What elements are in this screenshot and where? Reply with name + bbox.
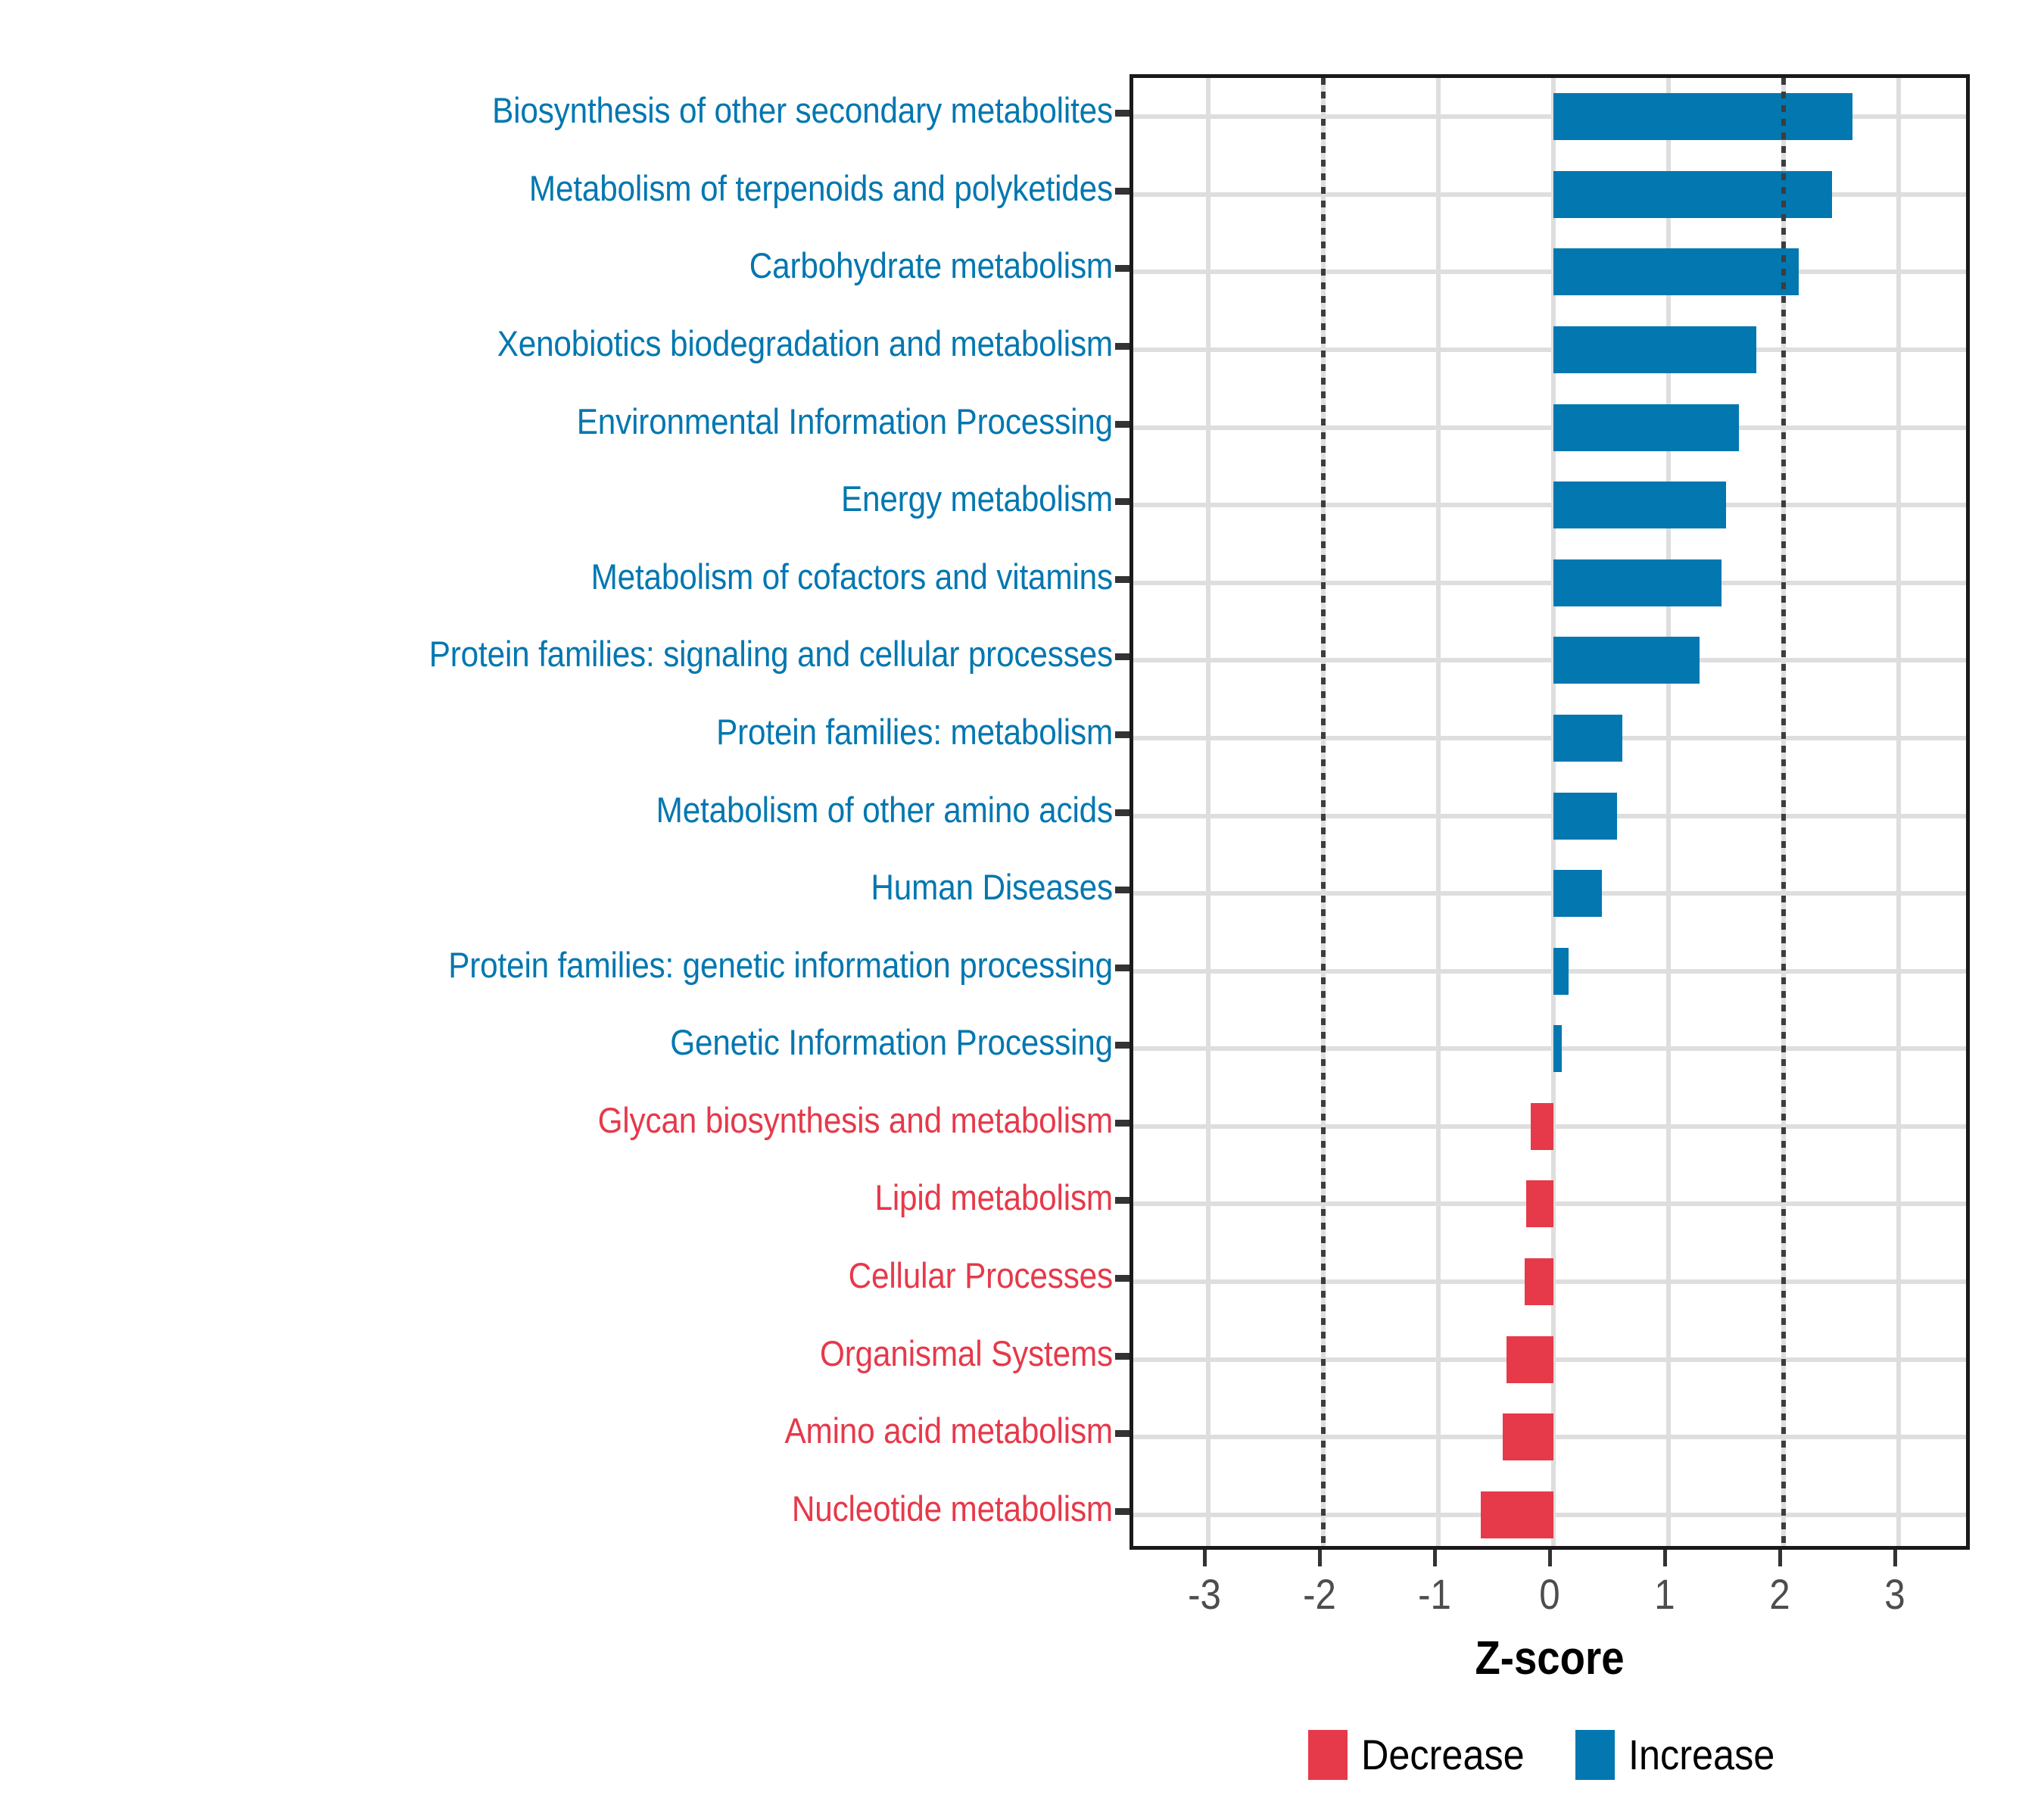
x-axis-tick-label: -1 <box>1418 1573 1451 1616</box>
x-gridline <box>1666 78 1671 1546</box>
x-axis-tick-label: -2 <box>1303 1573 1336 1616</box>
category-label: Glycan biosynthesis and metabolism <box>111 1102 1113 1138</box>
y-axis-tick <box>1115 110 1129 117</box>
category-label: Amino acid metabolism <box>111 1413 1113 1448</box>
y-axis-tick <box>1115 1275 1129 1282</box>
category-label: Lipid metabolism <box>111 1180 1113 1215</box>
bar[interactable] <box>1525 1258 1553 1305</box>
bar[interactable] <box>1553 1025 1562 1072</box>
reference-line <box>1781 78 1786 1546</box>
x-axis-tick-label: 1 <box>1654 1573 1675 1616</box>
reference-line <box>1321 78 1326 1546</box>
category-label: Biosynthesis of other secondary metaboli… <box>111 92 1113 128</box>
category-label: Environmental Information Processing <box>111 404 1113 439</box>
legend-swatch-icon <box>1308 1730 1348 1780</box>
y-gridline <box>1133 581 1966 585</box>
bar[interactable] <box>1553 637 1700 684</box>
y-gridline <box>1133 270 1966 274</box>
y-gridline <box>1133 348 1966 352</box>
category-label: Xenobiotics biodegradation and metabolis… <box>111 326 1113 361</box>
bar[interactable] <box>1553 715 1622 762</box>
y-axis-tick <box>1115 1197 1129 1204</box>
y-gridline <box>1133 969 1966 974</box>
y-axis-tick <box>1115 809 1129 816</box>
y-axis-tick <box>1115 188 1129 195</box>
x-axis-tick <box>1663 1550 1667 1566</box>
y-axis-tick <box>1115 265 1129 272</box>
chart-root: Biosynthesis of other secondary metaboli… <box>0 0 2044 1817</box>
bar[interactable] <box>1553 171 1832 218</box>
category-label: Nucleotide metabolism <box>111 1491 1113 1526</box>
category-label: Protein families: genetic information pr… <box>111 947 1113 983</box>
bar[interactable] <box>1503 1413 1553 1460</box>
y-axis-tick <box>1115 731 1129 738</box>
x-axis-tick <box>1203 1550 1207 1566</box>
y-gridline <box>1133 736 1966 740</box>
category-label: Metabolism of terpenoids and polyketides <box>111 170 1113 206</box>
category-label: Energy metabolism <box>111 481 1113 516</box>
y-axis-tick <box>1115 1430 1129 1437</box>
category-label: Cellular Processes <box>111 1258 1113 1293</box>
y-axis-tick <box>1115 1508 1129 1515</box>
category-labels-column: Biosynthesis of other secondary metaboli… <box>0 74 1113 1550</box>
category-label: Protein families: signaling and cellular… <box>111 636 1113 672</box>
y-gridline <box>1133 814 1966 818</box>
x-axis-tick-label: -3 <box>1188 1573 1221 1616</box>
legend-label: Decrease <box>1361 1734 1525 1776</box>
x-axis-tick <box>1318 1550 1322 1566</box>
y-axis-tick <box>1115 965 1129 971</box>
y-axis-tick <box>1115 887 1129 893</box>
legend-swatch-icon <box>1575 1730 1615 1780</box>
bar[interactable] <box>1553 948 1569 995</box>
y-gridline <box>1133 1046 1966 1051</box>
bar[interactable] <box>1531 1103 1553 1150</box>
x-axis-tick-label: 3 <box>1884 1573 1905 1616</box>
x-gridline <box>1206 78 1211 1546</box>
y-axis-tick <box>1115 576 1129 583</box>
y-gridline <box>1133 503 1966 507</box>
bar[interactable] <box>1553 248 1799 295</box>
x-axis-tick-label: 2 <box>1769 1573 1790 1616</box>
category-label: Metabolism of other amino acids <box>111 792 1113 827</box>
category-label: Carbohydrate metabolism <box>111 248 1113 283</box>
bar[interactable] <box>1553 404 1739 451</box>
y-axis-tick <box>1115 343 1129 350</box>
bar[interactable] <box>1553 793 1617 840</box>
category-label: Human Diseases <box>111 869 1113 905</box>
bar[interactable] <box>1553 93 1852 140</box>
category-label: Protein families: metabolism <box>111 714 1113 750</box>
bar[interactable] <box>1507 1336 1553 1383</box>
category-label: Organismal Systems <box>111 1335 1113 1371</box>
x-axis-tick-label: 0 <box>1539 1573 1559 1616</box>
category-label: Genetic Information Processing <box>111 1024 1113 1060</box>
category-label: Metabolism of cofactors and vitamins <box>111 559 1113 594</box>
bar[interactable] <box>1526 1180 1553 1227</box>
bar[interactable] <box>1553 559 1722 606</box>
x-gridline <box>1896 78 1901 1546</box>
bar[interactable] <box>1553 870 1602 917</box>
legend-label: Increase <box>1628 1734 1774 1776</box>
legend-item[interactable]: Decrease <box>1308 1730 1543 1780</box>
chart-legend: DecreaseIncrease <box>1129 1730 1970 1780</box>
x-gridline <box>1436 78 1441 1546</box>
y-gridline <box>1133 658 1966 662</box>
y-axis-tick <box>1115 1353 1129 1360</box>
y-gridline <box>1133 192 1966 197</box>
y-gridline <box>1133 425 1966 430</box>
x-axis-tick <box>1893 1550 1897 1566</box>
x-axis-tick <box>1433 1550 1437 1566</box>
bar[interactable] <box>1553 482 1726 528</box>
plot-panel-inner <box>1133 78 1966 1546</box>
bar[interactable] <box>1481 1491 1553 1538</box>
legend-item[interactable]: Increase <box>1575 1730 1791 1780</box>
y-axis-tick <box>1115 653 1129 660</box>
y-axis-tick <box>1115 421 1129 428</box>
x-axis-tick <box>1778 1550 1782 1566</box>
bar[interactable] <box>1553 326 1756 373</box>
y-axis-tick <box>1115 1120 1129 1127</box>
x-axis-tick <box>1548 1550 1552 1566</box>
y-axis-tick <box>1115 1042 1129 1049</box>
y-gridline <box>1133 891 1966 896</box>
plot-panel <box>1129 74 1970 1550</box>
x-axis-title: Z-score <box>1180 1635 1920 1682</box>
y-axis-tick <box>1115 498 1129 505</box>
